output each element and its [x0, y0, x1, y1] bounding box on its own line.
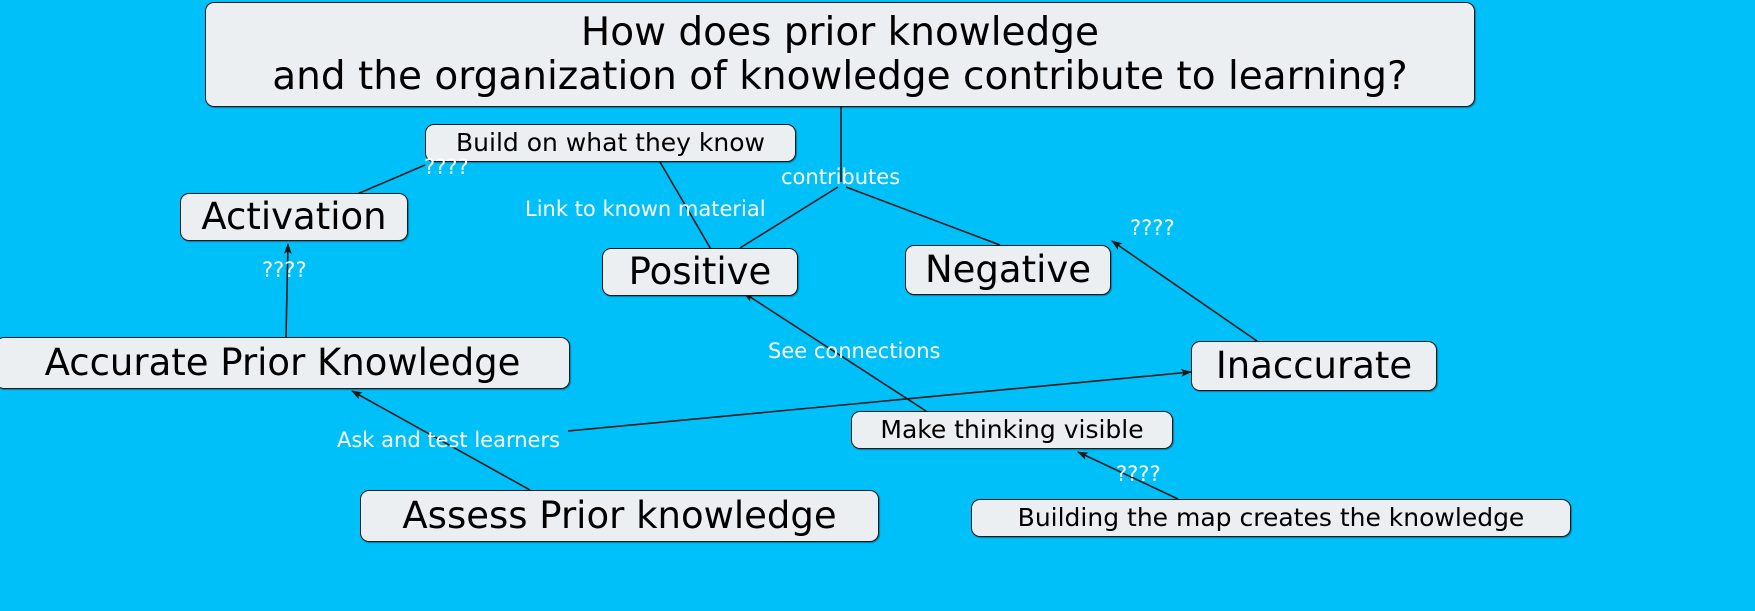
edge-hub-to-negative: [846, 187, 1000, 245]
node-build-on-what-they-know[interactable]: Build on what they know: [425, 124, 796, 162]
edge-make-thinking-visible-to-positive: [744, 293, 926, 411]
node-activation[interactable]: Activation: [180, 193, 408, 241]
edge-build-to-positive: [660, 162, 712, 251]
edge-build-to-activation: [355, 165, 425, 195]
node-building-the-map[interactable]: Building the map creates the knowledge: [971, 499, 1571, 537]
node-positive[interactable]: Positive: [602, 248, 798, 296]
node-focus-question[interactable]: How does prior knowledge and the organiz…: [205, 2, 1475, 107]
node-inaccurate[interactable]: Inaccurate: [1191, 341, 1437, 391]
edge-label-unlabeled-building-map: ????: [1116, 462, 1161, 486]
edge-hub-to-positive: [740, 187, 838, 248]
concept-map-canvas: How does prior knowledge and the organiz…: [0, 0, 1755, 611]
edge-inaccurate-to-negative: [1112, 241, 1257, 341]
edge-assess-to-accurate: [352, 391, 530, 490]
node-assess-prior-knowledge[interactable]: Assess Prior knowledge: [360, 490, 879, 542]
node-make-thinking-visible[interactable]: Make thinking visible: [851, 411, 1173, 449]
node-negative[interactable]: Negative: [905, 245, 1111, 295]
edge-label-contributes: contributes: [781, 165, 900, 189]
edge-building-map-to-make-thinking-visible: [1078, 452, 1178, 499]
edge-accurate-to-activation: [286, 244, 288, 337]
edge-label-unlabeled-activation: ????: [262, 258, 307, 282]
node-accurate-prior-knowledge[interactable]: Accurate Prior Knowledge: [0, 337, 570, 389]
edge-label-ask-and-test-learners: Ask and test learners: [337, 428, 560, 452]
edge-label-see-connections: See connections: [768, 339, 941, 363]
edge-label-unlabeled-negative: ????: [1130, 216, 1175, 240]
edge-label-link-to-known-material: Link to known material: [525, 197, 766, 221]
